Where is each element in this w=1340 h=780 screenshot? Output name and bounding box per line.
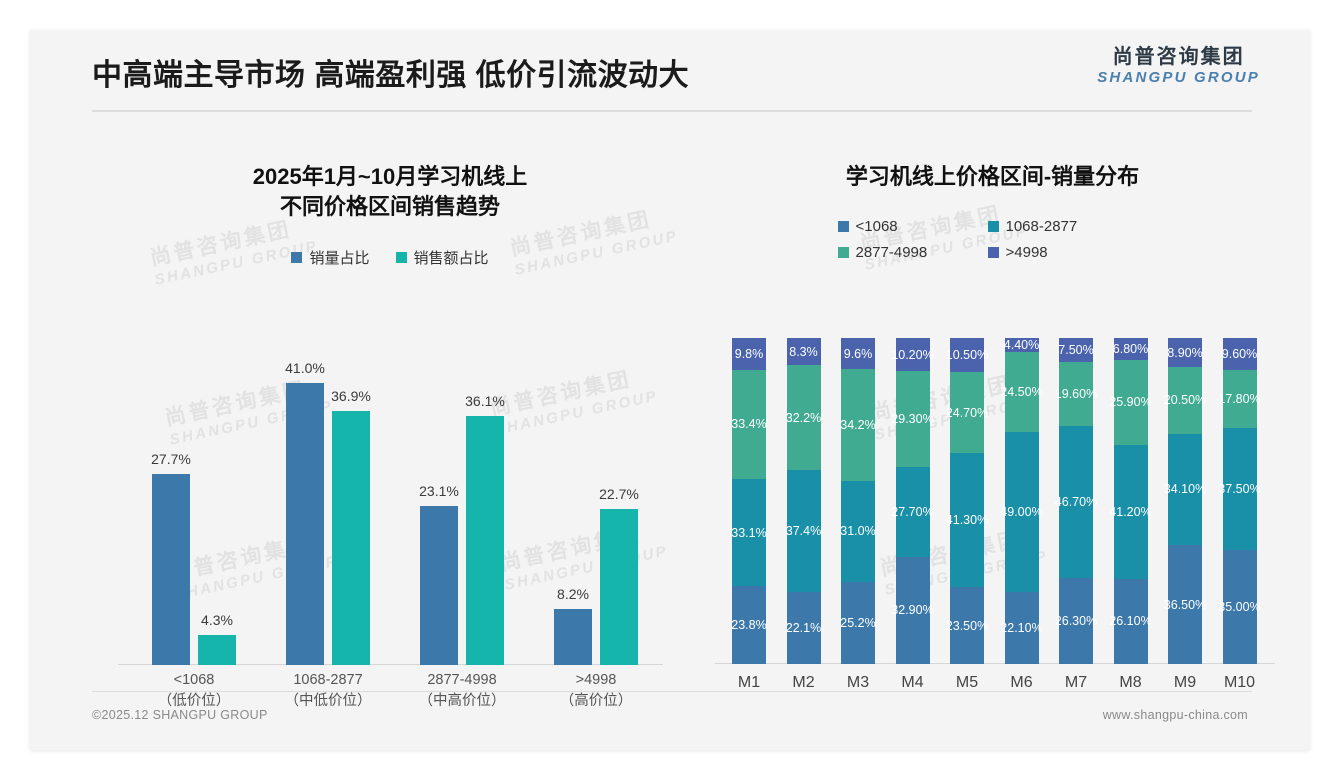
stacked-bar-plot-area: 9.8% 33.4% 33.1% 23.8% 8.3% 32.2% 37.4% … [723, 338, 1268, 664]
stacked-bar-chart: 9.8% 33.4% 33.1% 23.8% 8.3% 32.2% 37.4% … [715, 338, 1275, 710]
header-divider [92, 110, 1252, 112]
segment-value-label: 9.60% [1222, 347, 1257, 361]
segment-1068-2877[interactable]: 27.70% [896, 467, 930, 557]
bar-value-label: 41.0% [285, 360, 325, 376]
segment-value-label: 41.20% [1109, 505, 1151, 519]
segment-under-1068[interactable]: 25.2% [841, 582, 875, 664]
segment-value-label: 22.1% [786, 621, 821, 635]
x-axis-month-labels: M1 M2 M3 M4 M5 M6 M7 M8 M9 M10 [723, 674, 1268, 704]
bar-amount[interactable]: 22.7% [600, 509, 638, 665]
segment-over-4998[interactable]: 7.50% [1059, 338, 1093, 362]
segment-under-1068[interactable]: 23.50% [950, 587, 984, 664]
segment-value-label: 27.70% [891, 505, 933, 519]
segment-value-label: 41.30% [946, 513, 988, 527]
segment-2877-4998[interactable]: 19.60% [1059, 362, 1093, 426]
x-axis-tick-sublabel: （中高价位） [404, 691, 520, 712]
segment-value-label: 17.80% [1218, 392, 1260, 406]
slide-canvas: 尚普咨询集团 SHANGPU GROUP 尚普咨询集团 SHANGPU GROU… [30, 30, 1310, 750]
x-axis-tick-m3: M3 [832, 674, 884, 692]
segment-2877-4998[interactable]: 33.4% [732, 370, 766, 479]
segment-value-label: 19.60% [1055, 387, 1097, 401]
segment-value-label: 32.2% [786, 411, 821, 425]
stacked-column[interactable]: 9.8% 33.4% 33.1% 23.8% [723, 338, 775, 664]
x-axis-tick-label: 2877-4998 [427, 672, 496, 688]
segment-value-label: 31.0% [840, 524, 875, 538]
legend-swatch-icon [988, 221, 999, 232]
segment-value-label: 37.4% [786, 524, 821, 538]
x-axis-tick-m6: M6 [996, 674, 1048, 692]
bar-value-label: 23.1% [419, 483, 459, 499]
segment-value-label: 4.40% [1004, 338, 1039, 352]
bar-value-label: 8.2% [557, 586, 589, 602]
legend-item-sales-amount[interactable]: 销售额占比 [396, 247, 489, 268]
segment-value-label: 35.00% [1218, 600, 1260, 614]
x-axis-tick-m9: M9 [1159, 674, 1211, 692]
legend-item-sales-volume[interactable]: 销量占比 [291, 247, 369, 268]
segment-under-1068[interactable]: 23.8% [732, 586, 766, 664]
segment-1068-2877[interactable]: 34.10% [1168, 434, 1202, 545]
segment-value-label: 37.50% [1218, 482, 1260, 496]
segment-value-label: 6.80% [1113, 342, 1148, 356]
bar-group: 8.2% 22.7% [538, 355, 654, 665]
x-axis-category-labels: <1068 （低价位） 1068-2877 （中低价位） 2877-4998 （… [136, 666, 656, 710]
segment-under-1068[interactable]: 32.90% [896, 557, 930, 664]
segment-value-label: 10.20% [891, 348, 933, 362]
segment-value-label: 49.00% [1000, 505, 1042, 519]
bar-group: 41.0% 36.9% [270, 355, 386, 665]
segment-2877-4998[interactable]: 29.30% [896, 371, 930, 466]
stacked-column[interactable]: 10.50% 24.70% 41.30% 23.50% [941, 338, 993, 664]
logo-chinese-text: 尚普咨询集团 [1097, 46, 1260, 69]
legend-swatch-icon [291, 252, 302, 263]
legend-label: 销售额占比 [414, 247, 489, 268]
legend-item-2877-4998[interactable]: 2877-4998 [838, 244, 988, 261]
bar-group: 23.1% 36.1% [404, 355, 520, 665]
segment-1068-2877[interactable]: 41.20% [1114, 445, 1148, 579]
x-axis-tick-sublabel: （高价位） [538, 691, 654, 712]
segment-under-1068[interactable]: 22.1% [787, 592, 821, 664]
legend-swatch-icon [838, 247, 849, 258]
legend-item-1068-2877[interactable]: 1068-2877 [988, 218, 1148, 235]
page-title: 中高端主导市场 高端盈利强 低价引流波动大 [92, 50, 689, 94]
bar-volume[interactable]: 8.2% [554, 609, 592, 666]
segment-1068-2877[interactable]: 31.0% [841, 481, 875, 582]
segment-value-label: 24.50% [1000, 385, 1042, 399]
segment-value-label: 23.8% [731, 618, 766, 632]
segment-value-label: 33.4% [731, 417, 766, 431]
segment-1068-2877[interactable]: 33.1% [732, 479, 766, 587]
segment-value-label: 25.2% [840, 616, 875, 630]
bar-volume[interactable]: 23.1% [420, 506, 458, 665]
x-axis-tick-m1: M1 [723, 674, 775, 692]
stacked-column[interactable]: 4.40% 24.50% 49.00% 22.10% [996, 338, 1048, 664]
slide-header: 中高端主导市场 高端盈利强 低价引流波动大 尚普咨询集团 SHANGPU GRO… [30, 30, 1310, 118]
x-axis-tick-m10: M10 [1214, 674, 1266, 692]
segment-value-label: 46.70% [1055, 495, 1097, 509]
segment-1068-2877[interactable]: 37.50% [1223, 428, 1257, 550]
segment-value-label: 32.90% [891, 603, 933, 617]
legend-item-over-4998[interactable]: >4998 [988, 244, 1148, 261]
left-chart-panel: 2025年1月~10月学习机线上 不同价格区间销售趋势 销量占比 销售额占比 2… [90, 140, 690, 710]
bar-volume[interactable]: 27.7% [152, 474, 190, 665]
x-axis-tick-label: >4998 [576, 672, 617, 688]
stacked-column[interactable]: 6.80% 25.90% 41.20% 26.10% [1105, 338, 1157, 664]
segment-under-1068[interactable]: 35.00% [1223, 550, 1257, 664]
right-chart-legend: <1068 1068-2877 2877-4998 >4998 [705, 218, 1280, 261]
footer-divider [92, 691, 1252, 692]
bar-amount[interactable]: 36.9% [332, 411, 370, 665]
bar-amount[interactable]: 4.3% [198, 635, 236, 665]
right-chart-title-line1: 学习机线上价格区间-销量分布 [705, 162, 1280, 192]
segment-value-label: 23.50% [946, 619, 988, 633]
legend-swatch-icon [838, 221, 849, 232]
logo-english-text: SHANGPU GROUP [1097, 69, 1260, 87]
x-axis-tick-m7: M7 [1050, 674, 1102, 692]
stacked-column[interactable]: 7.50% 19.60% 46.70% 26.30% [1050, 338, 1102, 664]
segment-value-label: 9.8% [735, 347, 764, 361]
segment-value-label: 26.30% [1055, 614, 1097, 628]
grouped-bar-chart: 27.7% 4.3% 41.0% 36.9% 23. [118, 355, 663, 710]
legend-swatch-icon [988, 247, 999, 258]
segment-over-4998[interactable]: 6.80% [1114, 338, 1148, 360]
bar-value-label: 22.7% [599, 486, 639, 502]
segment-2877-4998[interactable]: 20.50% [1168, 367, 1202, 434]
segment-over-4998[interactable]: 9.60% [1223, 338, 1257, 369]
footer-website[interactable]: www.shangpu-china.com [1103, 708, 1248, 722]
left-chart-title-line2: 不同价格区间销售趋势 [90, 192, 690, 222]
segment-1068-2877[interactable]: 49.00% [1005, 432, 1039, 592]
right-chart-panel: 学习机线上价格区间-销量分布 <1068 1068-2877 2877-4998… [705, 140, 1280, 710]
legend-swatch-icon [396, 252, 407, 263]
segment-2877-4998[interactable]: 32.2% [787, 365, 821, 470]
segment-value-label: 22.10% [1000, 621, 1042, 635]
segment-2877-4998[interactable]: 17.80% [1223, 370, 1257, 428]
stacked-column[interactable]: 8.3% 32.2% 37.4% 22.1% [778, 338, 830, 664]
segment-2877-4998[interactable]: 25.90% [1114, 360, 1148, 444]
left-chart-title: 2025年1月~10月学习机线上 不同价格区间销售趋势 [90, 162, 690, 221]
segment-value-label: 34.10% [1164, 482, 1206, 496]
segment-value-label: 29.30% [891, 412, 933, 426]
brand-logo: 尚普咨询集团 SHANGPU GROUP [1097, 46, 1260, 87]
segment-value-label: 33.1% [731, 526, 766, 540]
segment-value-label: 8.90% [1167, 346, 1202, 360]
segment-value-label: 34.2% [840, 418, 875, 432]
segment-1068-2877[interactable]: 37.4% [787, 470, 821, 592]
segment-over-4998[interactable]: 10.20% [896, 338, 930, 371]
x-axis-tick-m5: M5 [941, 674, 993, 692]
x-axis-tick-m4: M4 [887, 674, 939, 692]
segment-2877-4998[interactable]: 24.70% [950, 372, 984, 453]
segment-2877-4998[interactable]: 24.50% [1005, 352, 1039, 432]
x-axis-tick-m8: M8 [1105, 674, 1157, 692]
segment-value-label: 10.50% [946, 348, 988, 362]
x-axis-tick-label: 1068-2877 [293, 672, 362, 688]
bar-volume[interactable]: 41.0% [286, 383, 324, 666]
segment-value-label: 8.3% [789, 345, 818, 359]
segment-over-4998[interactable]: 4.40% [1005, 338, 1039, 352]
segment-under-1068[interactable]: 36.50% [1168, 545, 1202, 664]
segment-value-label: 20.50% [1164, 393, 1206, 407]
stacked-column[interactable]: 8.90% 20.50% 34.10% 36.50% [1159, 338, 1211, 664]
segment-2877-4998[interactable]: 34.2% [841, 369, 875, 481]
segment-value-label: 7.50% [1058, 343, 1093, 357]
stacked-column[interactable]: 10.20% 29.30% 27.70% 32.90% [887, 338, 939, 664]
right-chart-title: 学习机线上价格区间-销量分布 [705, 162, 1280, 192]
segment-over-4998[interactable]: 9.6% [841, 338, 875, 369]
legend-label: 1068-2877 [1006, 218, 1078, 235]
segment-1068-2877[interactable]: 41.30% [950, 453, 984, 588]
left-chart-legend: 销量占比 销售额占比 [90, 247, 690, 268]
segment-value-label: 24.70% [946, 406, 988, 420]
segment-under-1068[interactable]: 26.30% [1059, 578, 1093, 664]
segment-over-4998[interactable]: 8.90% [1168, 338, 1202, 367]
segment-over-4998[interactable]: 9.8% [732, 338, 766, 370]
footer-copyright: ©2025.12 SHANGPU GROUP [92, 708, 268, 722]
segment-value-label: 26.10% [1109, 614, 1151, 628]
grouped-bar-plot-area: 27.7% 4.3% 41.0% 36.9% 23. [136, 355, 656, 665]
legend-label: <1068 [856, 218, 898, 235]
segment-over-4998[interactable]: 10.50% [950, 338, 984, 372]
bar-value-label: 36.9% [331, 388, 371, 404]
x-axis-tick-sublabel: （中低价位） [270, 691, 386, 712]
left-chart-title-line1: 2025年1月~10月学习机线上 [90, 162, 690, 192]
stacked-column[interactable]: 9.6% 34.2% 31.0% 25.2% [832, 338, 884, 664]
stacked-column[interactable]: 9.60% 17.80% 37.50% 35.00% [1214, 338, 1266, 664]
bar-value-label: 4.3% [201, 612, 233, 628]
x-axis-tick-label: <1068 [174, 672, 215, 688]
x-axis-tick-m2: M2 [778, 674, 830, 692]
segment-1068-2877[interactable]: 46.70% [1059, 426, 1093, 578]
legend-label: 2877-4998 [856, 244, 928, 261]
legend-label: 销量占比 [309, 247, 369, 268]
segment-over-4998[interactable]: 8.3% [787, 338, 821, 365]
bar-group: 27.7% 4.3% [136, 355, 252, 665]
segment-value-label: 36.50% [1164, 598, 1206, 612]
segment-value-label: 25.90% [1109, 395, 1151, 409]
segment-under-1068[interactable]: 26.10% [1114, 579, 1148, 664]
bar-amount[interactable]: 36.1% [466, 416, 504, 665]
legend-item-under-1068[interactable]: <1068 [838, 218, 988, 235]
bar-value-label: 27.7% [151, 451, 191, 467]
bar-value-label: 36.1% [465, 393, 505, 409]
segment-value-label: 9.6% [844, 347, 873, 361]
segment-under-1068[interactable]: 22.10% [1005, 592, 1039, 664]
legend-label: >4998 [1006, 244, 1048, 261]
